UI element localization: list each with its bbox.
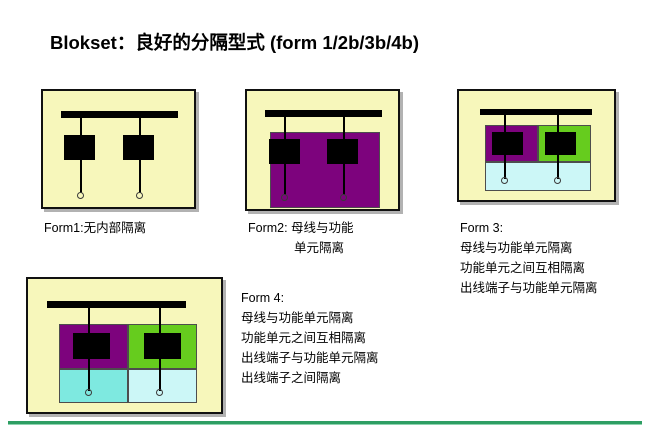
form4-caption-line-2: 母线与功能单元隔离 [241,308,379,328]
form3-caption-line-1: Form 3: [460,218,598,238]
form3-caption: Form 3: 母线与功能单元隔离 功能单元之间互相隔离 出线端子与功能单元隔离 [460,218,598,298]
form2-terminal-right [340,194,347,201]
form2-device-left [269,139,300,164]
form4-busbar [47,301,186,308]
form3-device-right [545,132,576,155]
form4-caption-line-3: 功能单元之间互相隔离 [241,328,379,348]
form3-terminal-left [501,177,508,184]
form3-diagram-panel [457,89,616,202]
form4-device-left [73,333,110,359]
footer-rule-highlight [8,424,642,425]
form2-terminal-left [281,194,288,201]
form3-terminal-right [554,177,561,184]
form1-caption: Form1:无内部隔离 [44,218,146,238]
form4-device-right [144,333,181,359]
page-title: Blokset：良好的分隔型式 (form 1/2b/3b/4b) [50,29,419,55]
form4-caption: Form 4: 母线与功能单元隔离 功能单元之间互相隔离 出线端子与功能单元隔离… [241,288,379,388]
form2-caption: Form2: 母线与功能 单元隔离 [248,218,354,258]
form4-terminal-right [156,389,163,396]
form2-diagram-panel [245,89,400,211]
form1-diagram-panel [41,89,196,209]
form1-terminal-right [136,192,143,199]
form2-caption-line-1: Form2: 母线与功能 [248,218,354,238]
form4-diagram-panel [26,277,223,414]
form1-device-left [64,135,95,160]
form3-caption-line-2: 母线与功能单元隔离 [460,238,598,258]
form3-caption-line-4: 出线端子与功能单元隔离 [460,278,598,298]
form4-caption-line-5: 出线端子之间隔离 [241,368,379,388]
form3-device-left [492,132,523,155]
form2-device-right [327,139,358,164]
form2-busbar [265,110,382,117]
form1-device-right [123,135,154,160]
form1-caption-line-1: Form1:无内部隔离 [44,218,146,238]
form1-terminal-left [77,192,84,199]
form4-compartment-right-terminals [128,369,197,403]
form4-terminal-left [85,389,92,396]
form3-busbar [480,109,592,115]
slide-canvas: Blokset：良好的分隔型式 (form 1/2b/3b/4b) Form1:… [0,0,650,431]
form2-caption-line-2: 单元隔离 [248,238,354,258]
form1-busbar [61,111,178,118]
form4-compartment-left-terminals [59,369,128,403]
form3-compartment-terminals [485,162,591,191]
form3-caption-line-3: 功能单元之间互相隔离 [460,258,598,278]
form4-caption-line-4: 出线端子与功能单元隔离 [241,348,379,368]
form4-caption-line-1: Form 4: [241,288,379,308]
